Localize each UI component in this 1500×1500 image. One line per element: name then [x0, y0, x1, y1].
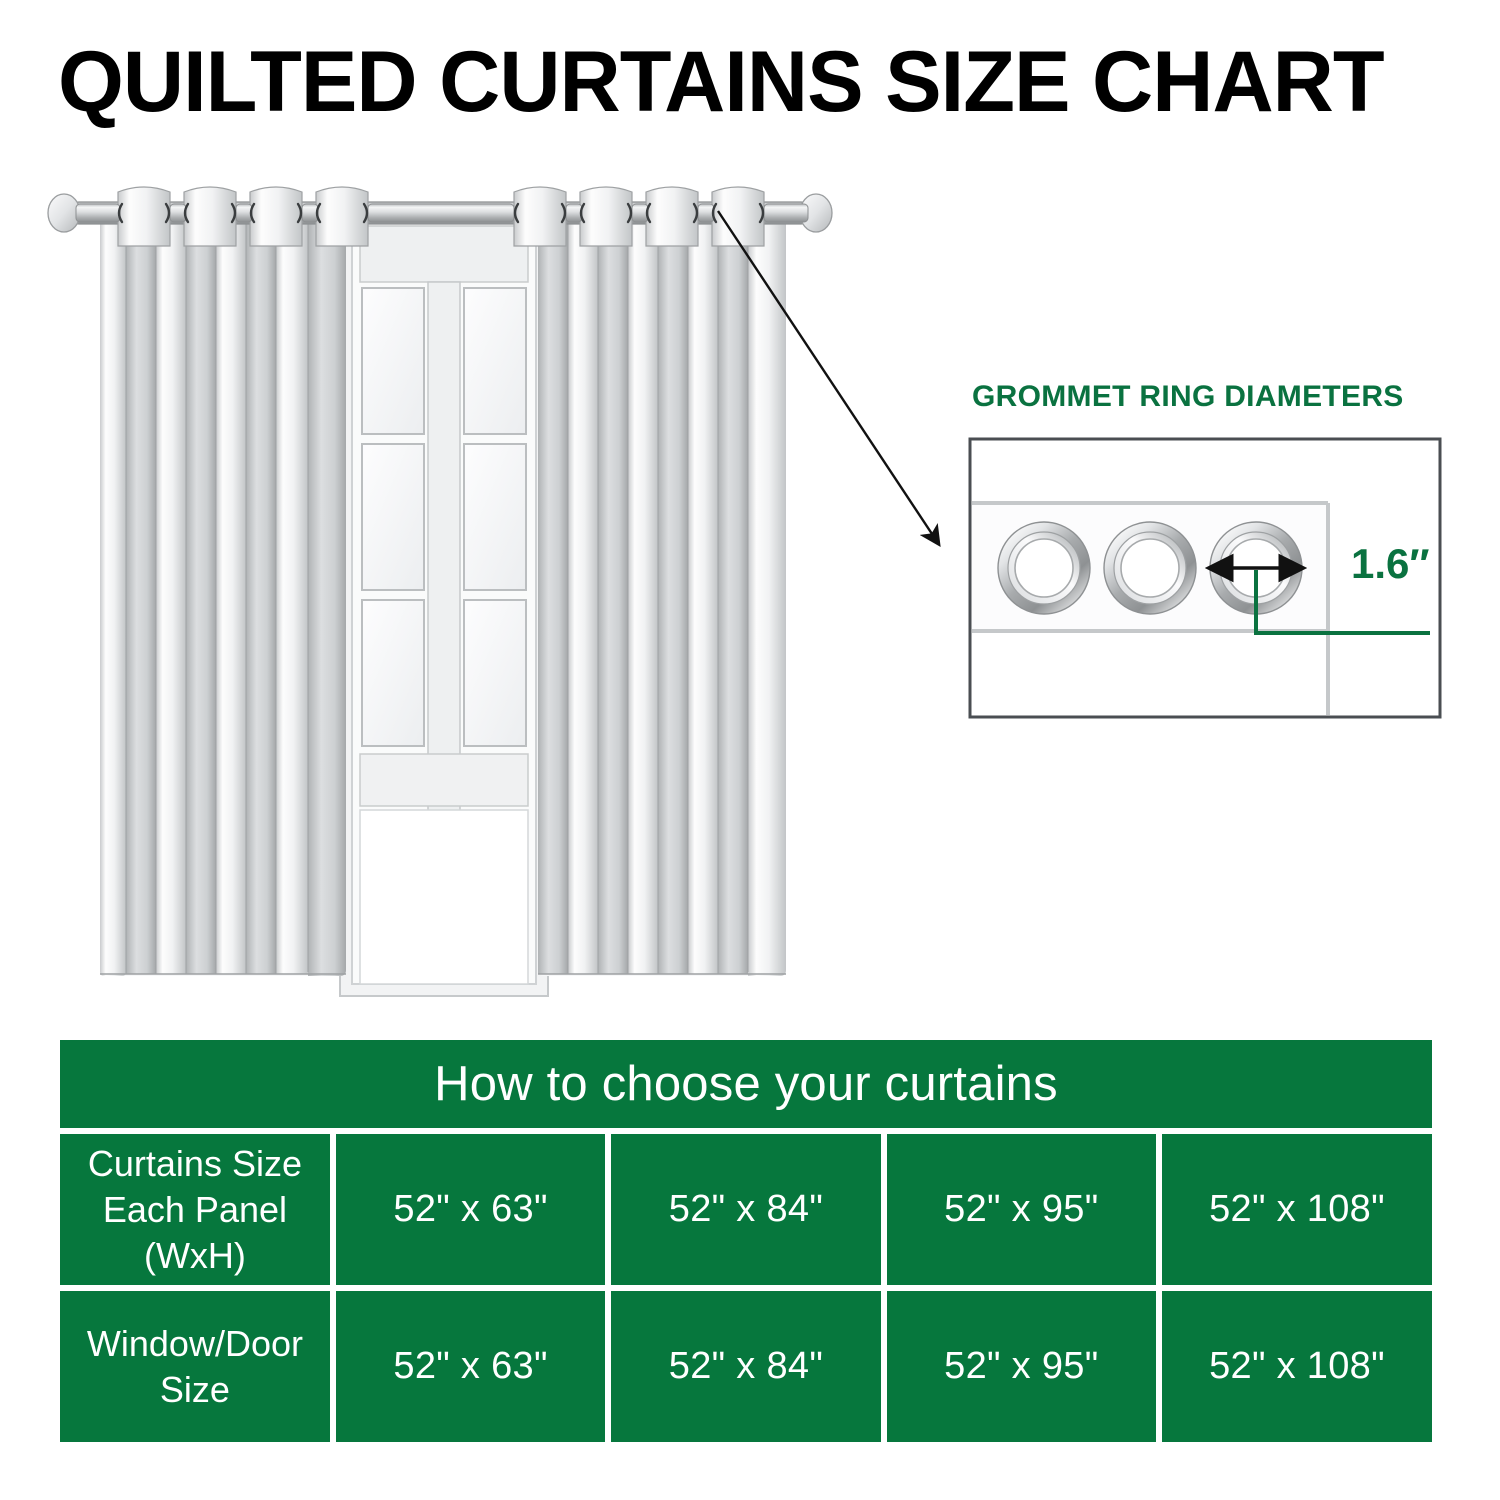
table-banner-row: How to choose your curtains	[60, 1040, 1432, 1128]
size-chart-table: How to choose your curtains Curtains Siz…	[54, 1034, 1438, 1448]
curtain-panel-right	[538, 212, 786, 976]
window-door-behind	[340, 206, 548, 996]
table-cell: 52" x 63"	[336, 1134, 605, 1285]
table-row: Curtains Size Each Panel (WxH) 52" x 63"…	[60, 1134, 1432, 1285]
row-label-line: Curtains Size	[66, 1141, 324, 1187]
grommet-ring	[998, 522, 1090, 614]
page-title: QUILTED CURTAINS SIZE CHART	[58, 34, 1437, 130]
row-label-line: Size	[66, 1367, 324, 1413]
grommet-detail-panel: GROMMET RING DIAMETERS	[968, 380, 1468, 725]
table-cell: 52" x 63"	[336, 1291, 605, 1442]
curtain-panel-left	[100, 212, 346, 976]
table-banner: How to choose your curtains	[60, 1040, 1432, 1128]
table-cell: 52" x 84"	[611, 1291, 880, 1442]
table-cell: 52" x 108"	[1162, 1291, 1432, 1442]
row-label-line: Each Panel	[66, 1187, 324, 1233]
table-cell: 52" x 95"	[887, 1291, 1156, 1442]
table-row: Window/Door Size 52" x 63" 52" x 84" 52"…	[60, 1291, 1432, 1442]
grommet-ring	[1104, 522, 1196, 614]
table-cell: 52" x 84"	[611, 1134, 880, 1285]
table-cell: 52" x 95"	[887, 1134, 1156, 1285]
curtain-illustration	[40, 170, 840, 1020]
row-label-curtains-size: Curtains Size Each Panel (WxH)	[60, 1134, 330, 1285]
table-cell: 52" x 108"	[1162, 1134, 1432, 1285]
row-label-line: Window/Door	[66, 1321, 324, 1367]
grommet-diameter-label: 1.6″	[1351, 540, 1430, 588]
row-label-line: (WxH)	[66, 1233, 324, 1279]
grommet-detail-heading: GROMMET RING DIAMETERS	[972, 380, 1404, 414]
row-label-window-door-size: Window/Door Size	[60, 1291, 330, 1442]
